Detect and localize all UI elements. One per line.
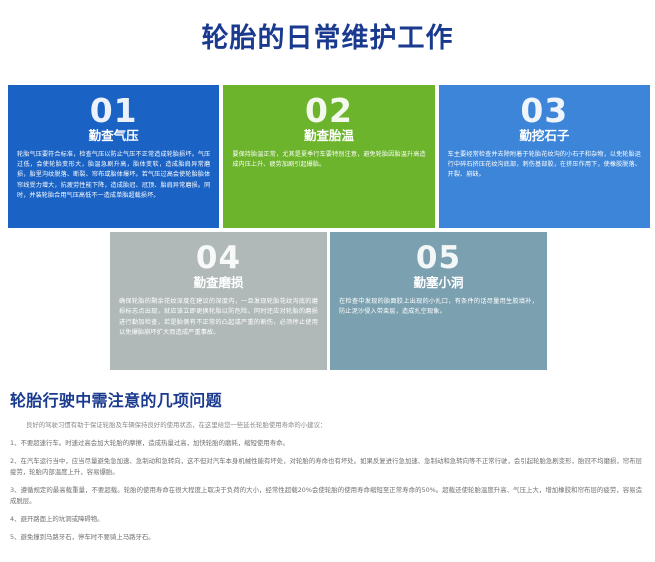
- card-03: 03 勤挖石子 车主要经常检查并去除附着于轮胎花纹沟的小石子和杂物，以免轮胎运行…: [439, 85, 650, 228]
- list-item: 5、避免撞到马路牙石，停车时不要骑上马路牙石。: [10, 532, 642, 543]
- card-row-top: 01 勤查气压 轮胎气压要符合标准，检查气压以防止气压不正常造成轮胎损坏。气压过…: [8, 85, 650, 228]
- poster-page: 轮胎的日常维护工作 01 勤查气压 轮胎气压要符合标准，检查气压以防止气压不正常…: [0, 0, 655, 562]
- card-05: 05 勤塞小洞 在检查中发现的胎面胶上出现的小扎口，有条件的话尽量用生胶填补，防…: [330, 232, 547, 370]
- card-03-number: 03: [448, 93, 641, 129]
- card-01-number: 01: [17, 93, 210, 129]
- page-title: 轮胎的日常维护工作: [0, 22, 655, 56]
- card-02-body: 要保持胎温正常，尤其是夏季行车要特别注意，避免轮胎因胎温升高造成内压上升、疲劳加…: [232, 150, 425, 170]
- section-heading: 轮胎行驶中需注意的几项问题: [10, 390, 222, 412]
- list-item: 3、遵循规定的最高载重量，不要超载。轮胎的使用寿命在很大程度上取决于负荷的大小，…: [10, 485, 642, 507]
- list-item: 1、不要超速行车。时速过高会加大轮胎的摩擦，造成热量过高，加快轮胎的磨耗，缩短使…: [10, 438, 642, 449]
- card-02-number: 02: [232, 93, 425, 129]
- card-03-body: 车主要经常检查并去除附着于轮胎花纹沟的小石子和杂物，以免轮胎运行中碎石挤压花纹沟…: [448, 150, 641, 181]
- section-intro: 良好的驾驶习惯有助于保证轮胎及车辆保持良好的使用状态，在这里给您一些延长轮胎使用…: [26, 420, 638, 431]
- list-item: 4、避开路面上的坑洞或障碍物。: [10, 514, 642, 525]
- tips-list: 1、不要超速行车。时速过高会加大轮胎的摩擦，造成热量过高，加快轮胎的磨耗，缩短使…: [10, 438, 642, 550]
- card-04: 04 勤查磨损 确保轮胎的剩余花纹深度在建议的深度内，一旦发现轮胎花纹沟底的磨损…: [110, 232, 327, 370]
- card-04-body: 确保轮胎的剩余花纹深度在建议的深度内，一旦发现轮胎花纹沟底的磨损标志点出现，就应…: [119, 297, 318, 339]
- card-01: 01 勤查气压 轮胎气压要符合标准，检查气压以防止气压不正常造成轮胎损坏。气压过…: [8, 85, 219, 228]
- card-01-body: 轮胎气压要符合标准，检查气压以防止气压不正常造成轮胎损坏。气压过低，会使轮胎变形…: [17, 150, 210, 201]
- card-05-number: 05: [339, 240, 538, 276]
- card-04-number: 04: [119, 240, 318, 276]
- card-05-title: 勤塞小洞: [339, 274, 538, 291]
- card-row-bottom: 04 勤查磨损 确保轮胎的剩余花纹深度在建议的深度内，一旦发现轮胎花纹沟底的磨损…: [110, 232, 547, 370]
- list-item: 2、在汽车运行当中，应当尽量避免急加速、急制动和急转向，这不但对汽车本身机械性能…: [10, 456, 642, 478]
- card-04-title: 勤查磨损: [119, 274, 318, 291]
- card-02: 02 勤查胎温 要保持胎温正常，尤其是夏季行车要特别注意，避免轮胎因胎温升高造成…: [223, 85, 434, 228]
- card-05-body: 在检查中发现的胎面胶上出现的小扎口，有条件的话尽量用生胶填补，防止泥沙侵入带束层…: [339, 297, 538, 318]
